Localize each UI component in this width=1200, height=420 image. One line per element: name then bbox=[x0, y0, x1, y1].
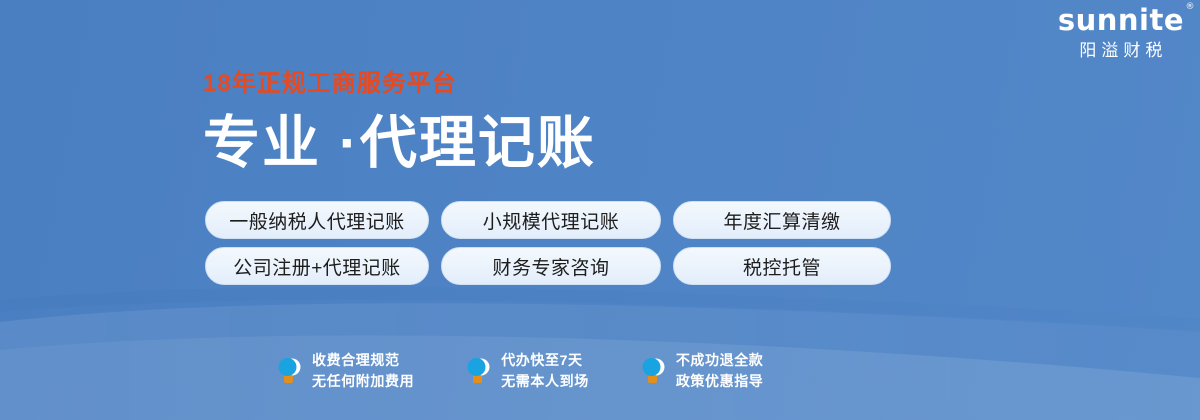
feature-line-1: 不成功退全款 bbox=[676, 350, 764, 371]
service-pill-company-registration[interactable]: 公司注册+代理记账 bbox=[205, 247, 429, 285]
service-pill-group: 一般纳税人代理记账 小规模代理记账 年度汇算清缴 公司注册+代理记账 财务专家咨… bbox=[205, 201, 891, 285]
hero-text-group: 18年正规工商服务平台 专业 ·代理记账 bbox=[203, 72, 596, 176]
feature-text: 收费合理规范 无任何附加费用 bbox=[312, 350, 414, 392]
bulb-icon bbox=[464, 355, 492, 387]
feature-text: 不成功退全款 政策优惠指导 bbox=[676, 350, 764, 392]
promo-banner: sunnite ® 阳溢财税 18年正规工商服务平台 专业 ·代理记账 一般纳税… bbox=[0, 0, 1200, 420]
feature-line-1: 代办快至7天 bbox=[501, 350, 589, 371]
bulb-icon bbox=[639, 355, 667, 387]
feature-line-2: 政策优惠指导 bbox=[676, 371, 764, 392]
service-pill-annual-settlement[interactable]: 年度汇算清缴 bbox=[673, 201, 891, 239]
service-pill-row: 一般纳税人代理记账 小规模代理记账 年度汇算清缴 bbox=[205, 201, 891, 239]
logo-chinese-name: 阳溢财税 bbox=[1058, 42, 1184, 59]
feature-item-fair-pricing: 收费合理规范 无任何附加费用 bbox=[275, 350, 414, 392]
bulb-icon bbox=[275, 355, 303, 387]
feature-item-fast-processing: 代办快至7天 无需本人到场 bbox=[464, 350, 589, 392]
service-pill-small-scale[interactable]: 小规模代理记账 bbox=[441, 201, 661, 239]
feature-line-2: 无需本人到场 bbox=[501, 371, 589, 392]
feature-text: 代办快至7天 无需本人到场 bbox=[501, 350, 589, 392]
feature-line-2: 无任何附加费用 bbox=[312, 371, 414, 392]
hero-headline: 专业 ·代理记账 bbox=[203, 112, 596, 176]
service-pill-finance-consulting[interactable]: 财务专家咨询 bbox=[441, 247, 661, 285]
hero-eyebrow: 18年正规工商服务平台 bbox=[203, 72, 596, 96]
feature-line-1: 收费合理规范 bbox=[312, 350, 414, 371]
registered-trademark-icon: ® bbox=[1186, 3, 1196, 12]
brand-logo[interactable]: sunnite ® 阳溢财税 bbox=[1058, 6, 1184, 59]
service-pill-tax-control-hosting[interactable]: 税控托管 bbox=[673, 247, 891, 285]
service-pill-general-taxpayer[interactable]: 一般纳税人代理记账 bbox=[205, 201, 429, 239]
feature-item-money-back-guarantee: 不成功退全款 政策优惠指导 bbox=[639, 350, 764, 392]
service-pill-row: 公司注册+代理记账 财务专家咨询 税控托管 bbox=[205, 247, 891, 285]
feature-strip: 收费合理规范 无任何附加费用 代办快至7天 无需本人到场 不成功退全款 bbox=[275, 350, 763, 392]
logo-wordmark: sunnite ® bbox=[1058, 6, 1184, 35]
logo-wordmark-text: sunnite bbox=[1058, 3, 1184, 37]
